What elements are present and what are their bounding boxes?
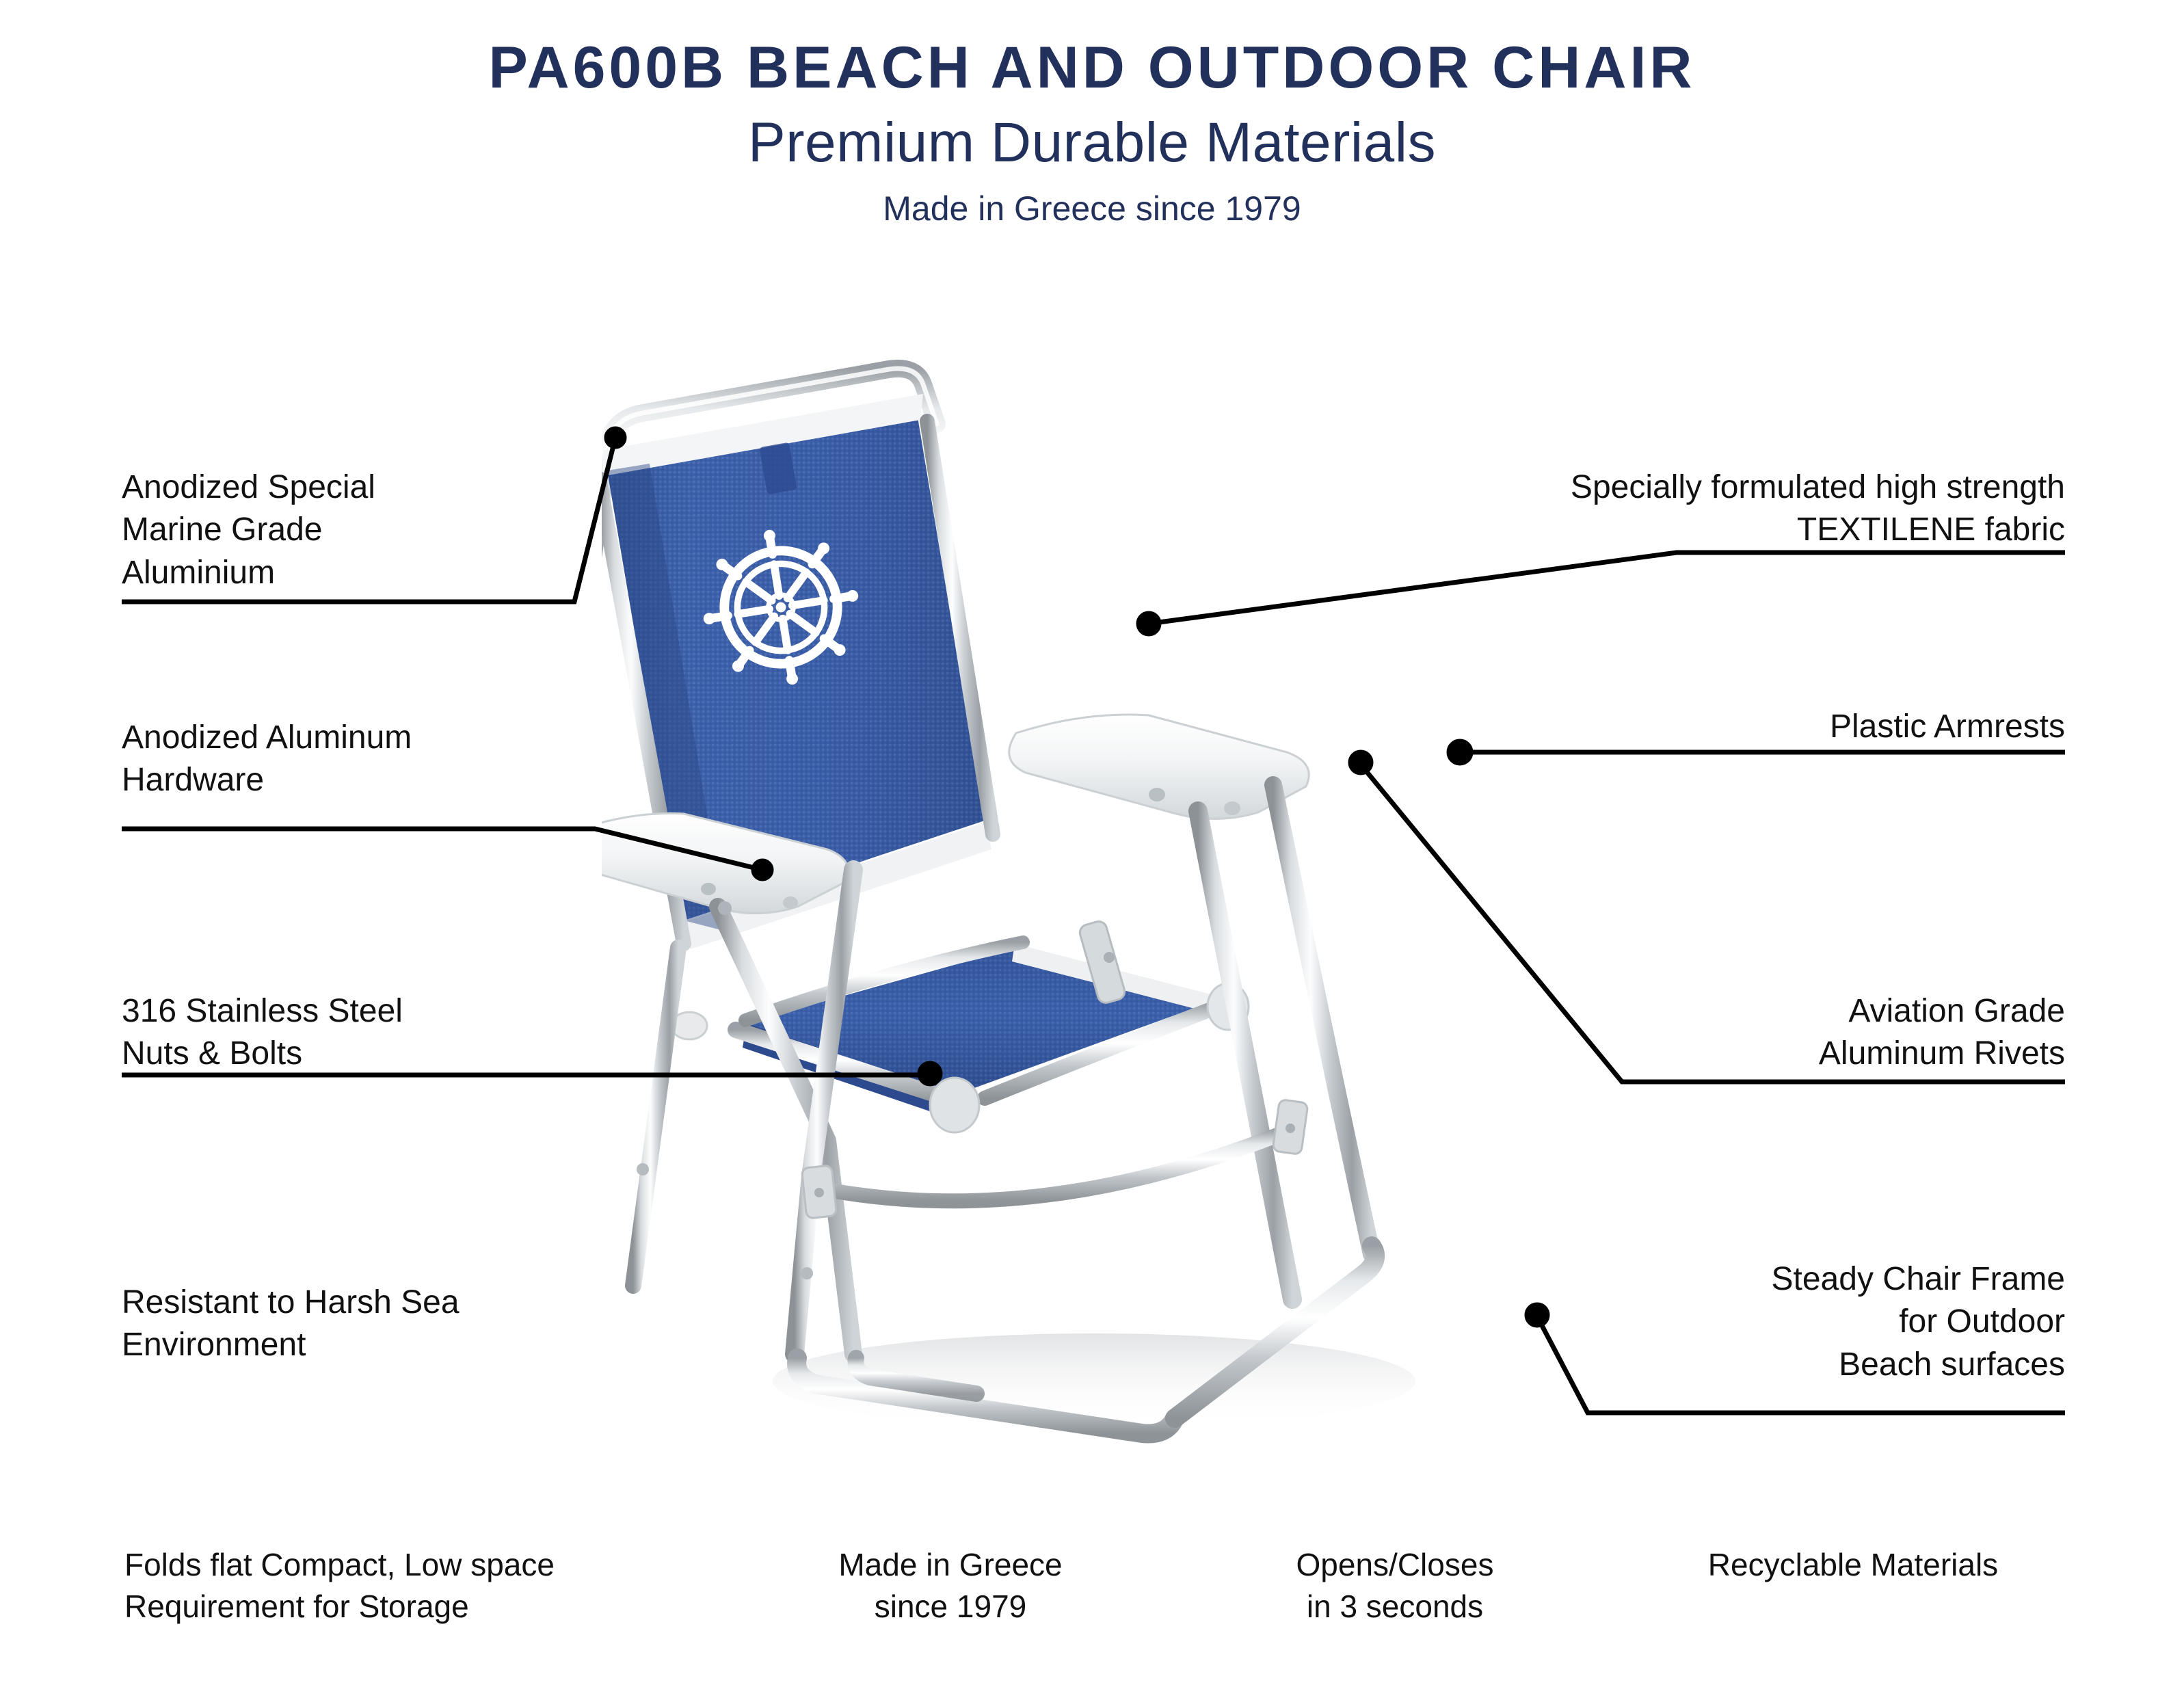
feature-opens-closes: Opens/Closes in 3 seconds: [1224, 1544, 1566, 1627]
callout-resistant-harsh-sea: Resistant to Harsh Sea Environment: [122, 1281, 669, 1367]
callout-steady-chair-frame: Steady Chair Frame for Outdoor Beach sur…: [1450, 1258, 2065, 1386]
callout-aviation-grade-rivets: Aviation Grade Aluminum Rivets: [1450, 990, 2065, 1076]
page-title: PA600B BEACH AND OUTDOOR CHAIR: [0, 38, 2184, 97]
infographic-canvas: PA600B BEACH AND OUTDOOR CHAIR Premium D…: [0, 0, 2184, 1700]
pivot-knob-front: [930, 1078, 979, 1132]
callout-stainless-nuts-bolts: 316 Stainless Steel Nuts & Bolts: [122, 990, 641, 1076]
bolt-head-1: [637, 1163, 649, 1176]
cross-brace: [821, 1130, 1291, 1201]
armrest-right: [1009, 715, 1309, 819]
page-tagline: Made in Greece since 1979: [0, 191, 2184, 226]
callout-anodized-marine-aluminium: Anodized Special Marine Grade Aluminium: [122, 466, 614, 594]
callout-textilene-fabric: Specially formulated high strength TEXTI…: [1313, 466, 2065, 552]
rivet-bracket-right: [1273, 1099, 1308, 1154]
header: PA600B BEACH AND OUTDOOR CHAIR Premium D…: [0, 0, 2184, 226]
rivet-bracket-left: [801, 1165, 836, 1219]
feature-made-in-greece: Made in Greece since 1979: [773, 1544, 1128, 1627]
bolt-head-2: [801, 1267, 813, 1279]
feature-recyclable-materials: Recyclable Materials: [1641, 1544, 2065, 1586]
leg-rear-right: [1198, 811, 1292, 1299]
bolt-head-3: [718, 901, 732, 915]
callout-plastic-armrests: Plastic Armrests: [1450, 706, 2065, 748]
feature-folds-flat-compact: Folds flat Compact, Low space Requiremen…: [124, 1544, 699, 1627]
leg-front-right: [1273, 785, 1372, 1254]
callout-anodized-aluminum-hardware: Anodized Aluminum Hardware: [122, 717, 641, 802]
page-subtitle: Premium Durable Materials: [0, 115, 2184, 171]
